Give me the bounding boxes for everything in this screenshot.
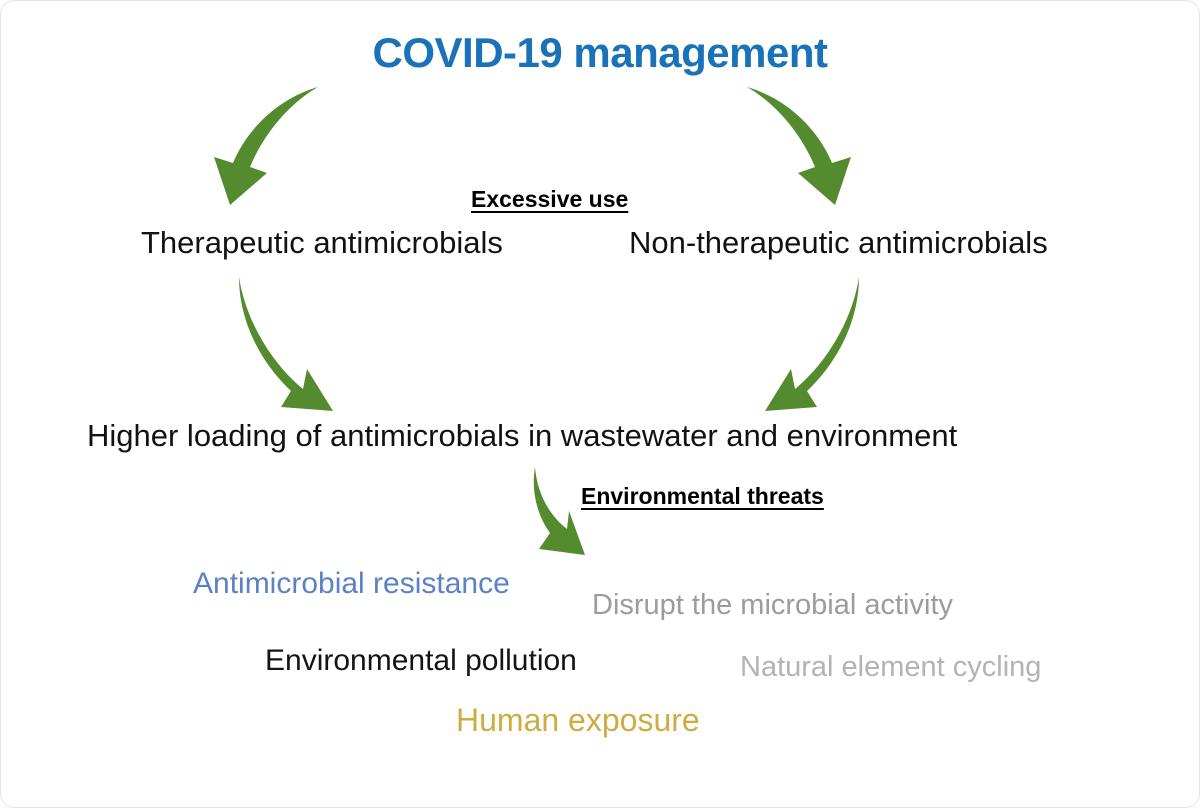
edge-label-environmental-threats: Environmental threats bbox=[581, 483, 824, 510]
outcome-antimicrobial-resistance: Antimicrobial resistance bbox=[193, 567, 510, 601]
arrow-loading-to-outcomes-icon bbox=[523, 463, 603, 563]
arrow-title-to-non-therapeutic-icon bbox=[729, 81, 859, 216]
diagram-canvas: COVID-19 management Therapeutic antimicr… bbox=[0, 0, 1200, 808]
node-therapeutic-antimicrobials: Therapeutic antimicrobials bbox=[141, 225, 503, 261]
node-higher-loading-of-antimicrobials: Higher loading of antimicrobials in wast… bbox=[87, 418, 957, 454]
arrow-therapeutic-to-loading-icon bbox=[219, 273, 349, 418]
outcome-environmental-pollution: Environmental pollution bbox=[265, 644, 577, 678]
arrow-non-therapeutic-to-loading-icon bbox=[749, 273, 879, 418]
arrow-title-to-therapeutic-icon bbox=[206, 81, 336, 216]
outcome-natural-element-cycling: Natural element cycling bbox=[740, 651, 1041, 684]
page-title: COVID-19 management bbox=[1, 29, 1199, 77]
outcome-disrupt-the-microbial-activity: Disrupt the microbial activity bbox=[592, 589, 953, 622]
edge-label-excessive-use: Excessive use bbox=[471, 186, 628, 213]
outcome-human-exposure: Human exposure bbox=[456, 702, 700, 739]
node-non-therapeutic-antimicrobials: Non-therapeutic antimicrobials bbox=[629, 225, 1048, 261]
